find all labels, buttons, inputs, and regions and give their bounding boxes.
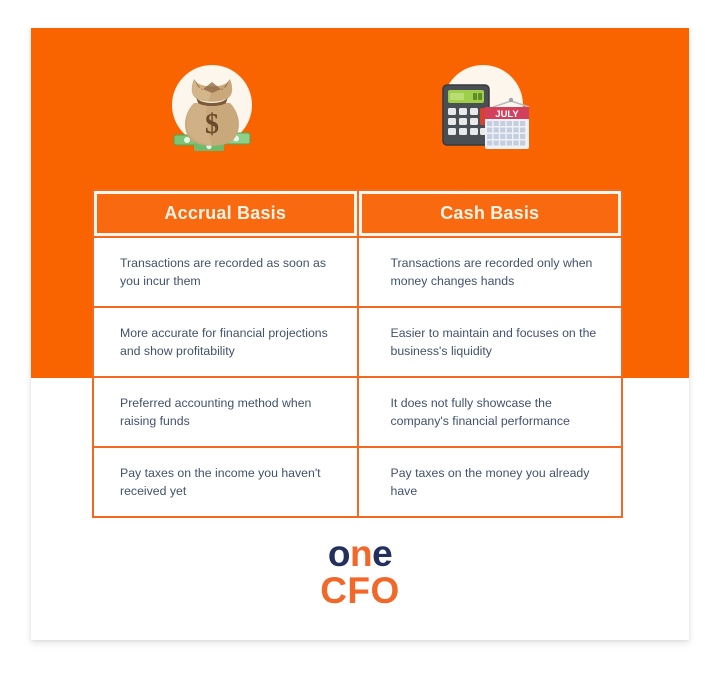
illustrations-row: $ [31,28,689,186]
money-bag-icon: $ [164,63,260,159]
cell-accrual-1: Transactions are recorded as soon as you… [93,237,358,307]
infographic-card: $ [31,28,689,640]
logo-letter-o: o [328,533,350,574]
logo-line-cfo: CFO [31,573,689,608]
cell-cash-2: Easier to maintain and focuses on the bu… [358,307,623,377]
calendar-month-label: JULY [495,109,519,120]
cell-cash-3: It does not fully showcase the company's… [358,377,623,447]
logo-letter-e: e [372,533,392,574]
calculator-calendar-icon: JULY [435,63,531,159]
cell-accrual-2: More accurate for financial projections … [93,307,358,377]
table-row: Transactions are recorded as soon as you… [93,237,622,307]
logo-letter-n: n [350,533,372,574]
table-row: Preferred accounting method when raising… [93,377,622,447]
table-row: Pay taxes on the income you haven't rece… [93,447,622,517]
cell-cash-1: Transactions are recorded only when mone… [358,237,623,307]
money-bag-art: $ [164,63,260,159]
onecfo-logo: one CFO [31,536,689,608]
logo-line-one: one [31,536,689,571]
column-header-accrual: Accrual Basis [93,190,358,237]
column-header-cash: Cash Basis [358,190,623,237]
table-header-row: Accrual Basis Cash Basis [93,190,622,237]
cell-accrual-4: Pay taxes on the income you haven't rece… [93,447,358,517]
svg-text:$: $ [205,109,219,140]
calculator-calendar-art: JULY [435,63,531,159]
table-row: More accurate for financial projections … [93,307,622,377]
cell-accrual-3: Preferred accounting method when raising… [93,377,358,447]
cell-cash-4: Pay taxes on the money you already have [358,447,623,517]
comparison-table: Accrual Basis Cash Basis Transactions ar… [92,189,623,518]
